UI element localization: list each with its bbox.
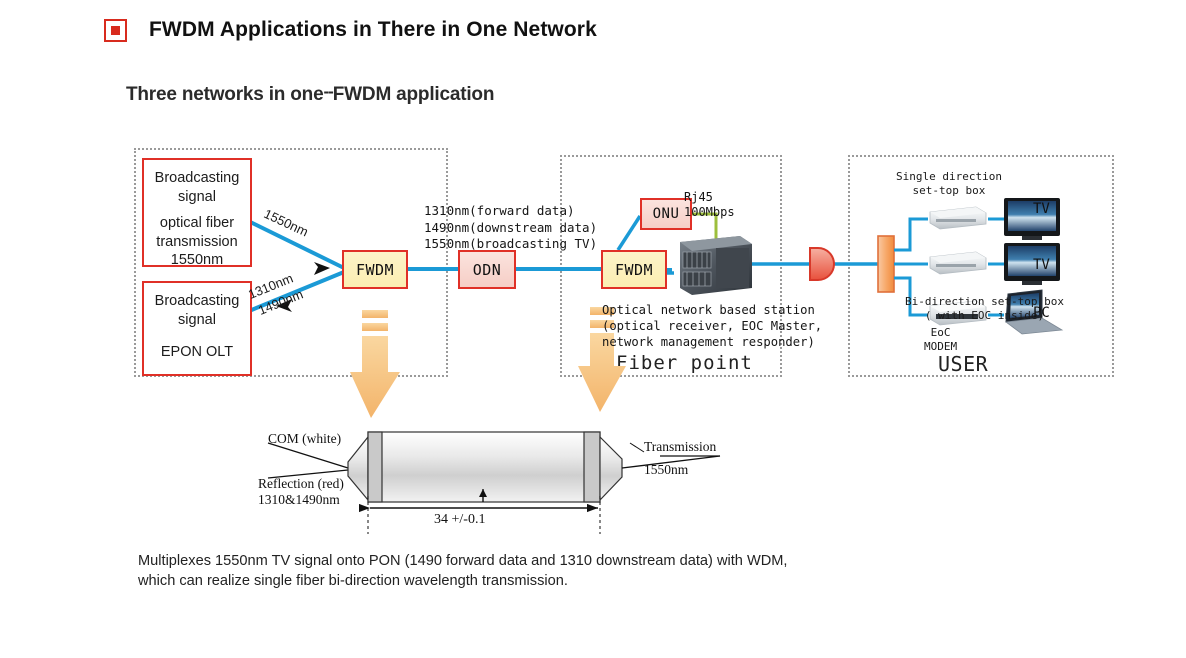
station-line3: network management responder)	[602, 335, 822, 351]
zone-label-user: USER	[938, 352, 988, 376]
block-fwdm-left[interactable]: FWDM	[342, 250, 408, 289]
wavelength-legend-line3: 1550nm(broadcasting TV)	[424, 236, 597, 253]
box-bc1-line3: optical fiber	[144, 214, 250, 233]
label-eoc-line1: EoC	[924, 326, 957, 340]
zone-label-fiber-point: Fiber point	[616, 352, 753, 374]
subtitle-prefix: Three networks in one	[126, 84, 323, 105]
station-line2: (optical receiver, EOC Master,	[602, 319, 822, 335]
box-bc1-line1: Broadcasting	[144, 169, 250, 188]
label-tv-1: TV	[1033, 201, 1050, 217]
label-pc: PC	[1033, 305, 1050, 321]
label-rj45-line2: 100Mbps	[684, 205, 735, 220]
label-reflection-wavelengths: 1310&1490nm	[258, 492, 340, 508]
station-line1: Optical network based station	[602, 303, 822, 319]
optical-receiver-icon	[810, 248, 834, 280]
block-odn[interactable]: ODN	[458, 250, 516, 289]
label-transmission-port: Transmission	[644, 439, 716, 455]
box-bc2-line3: EPON OLT	[144, 343, 250, 362]
block-fwdm-right[interactable]: FWDM	[601, 250, 667, 289]
box-bc2-line1: Broadcasting	[144, 292, 250, 311]
label-com-port: COM (white)	[268, 431, 341, 447]
page-title: FWDM Applications in There in One Networ…	[149, 18, 597, 42]
label-transmission-wavelength: 1550nm	[644, 462, 688, 478]
subtitle-suffix: FWDM application	[333, 84, 494, 105]
label-eoc-line2: MODEM	[924, 340, 957, 354]
subtitle-dashes: --	[323, 82, 332, 101]
label-rj45-line1: Rj45	[684, 190, 735, 205]
label-sd-line2: set-top box	[896, 184, 1002, 198]
caption-line1: Multiplexes 1550nm TV signal onto PON (1…	[138, 551, 1018, 571]
box-bc1-line5: 1550nm	[144, 251, 250, 270]
box-bc2-line2: signal	[144, 311, 250, 330]
box-bc1-line4: transmission	[144, 233, 250, 252]
bottom-caption: Multiplexes 1550nm TV signal onto PON (1…	[138, 551, 1018, 591]
diagram-subtitle: Three networks in one--FWDM application	[126, 84, 494, 106]
caption-line2: which can realize single fiber bi-direct…	[138, 571, 1018, 591]
label-single-direction-stb: Single direction set-top box	[896, 170, 1002, 198]
label-tv-2: TV	[1033, 257, 1050, 273]
label-sd-line1: Single direction	[896, 170, 1002, 184]
box-broadcasting-1550: Broadcasting signal optical fiber transm…	[142, 158, 252, 267]
box-bc1-line2: signal	[144, 188, 250, 207]
title-bullet-icon	[104, 19, 127, 42]
label-reflection-port: Reflection (red)	[258, 476, 344, 492]
page-title-bar: FWDM Applications in There in One Networ…	[104, 18, 597, 42]
wavelength-legend-line2: 1490nm(downstream data)	[424, 220, 597, 237]
label-dimension: 34 +/-0.1	[434, 512, 485, 528]
wavelength-legend: 1310nm(forward data) 1490nm(downstream d…	[424, 203, 597, 253]
box-broadcasting-epon: Broadcasting signal EPON OLT	[142, 281, 252, 376]
wavelength-legend-line1: 1310nm(forward data)	[424, 203, 597, 220]
label-eoc-modem: EoC MODEM	[924, 326, 957, 354]
label-rj45: Rj45 100Mbps	[684, 190, 735, 220]
label-optical-station: Optical network based station (optical r…	[602, 303, 822, 351]
